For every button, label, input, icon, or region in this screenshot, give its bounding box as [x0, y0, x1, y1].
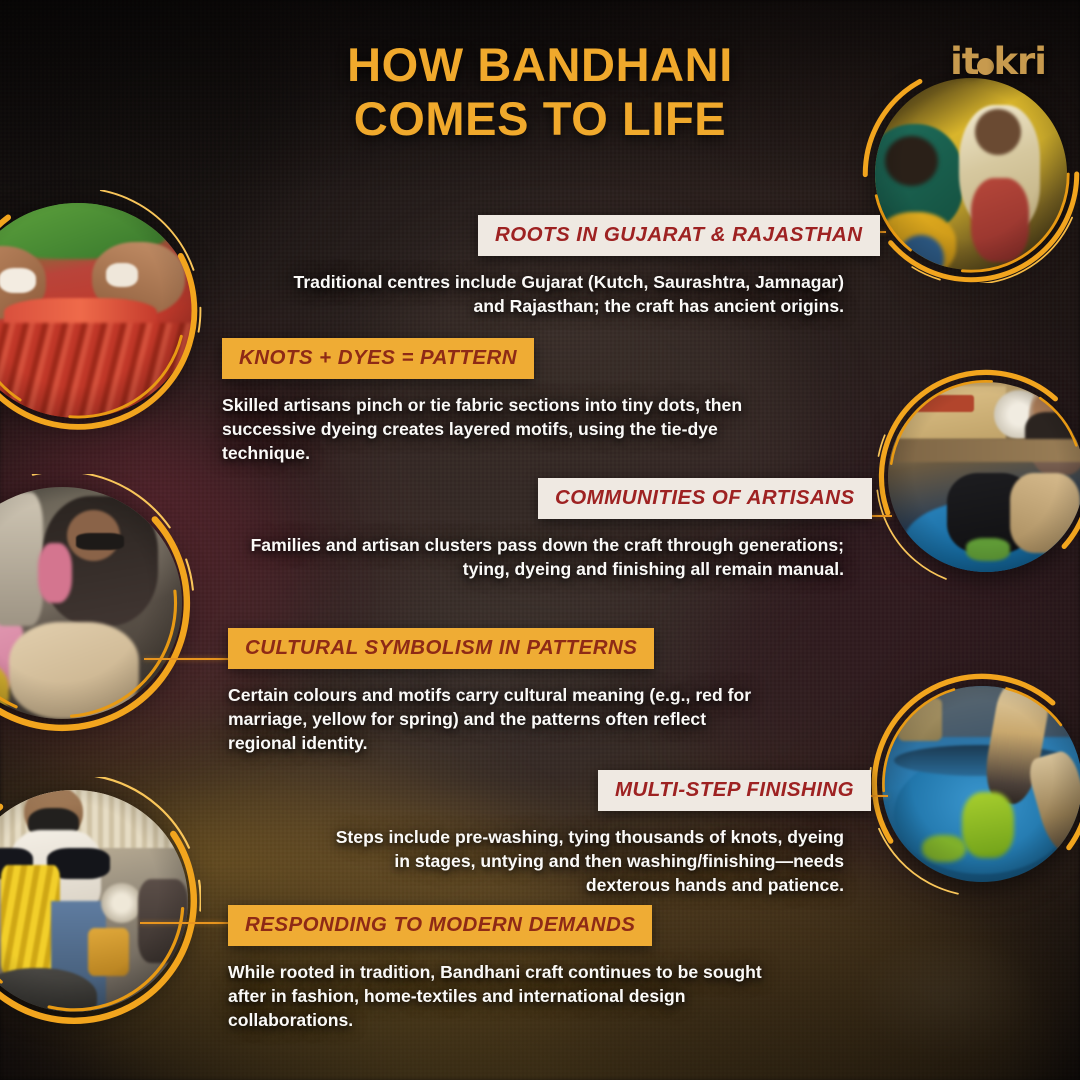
photo-yellow-dyeing-disc: [0, 790, 188, 1012]
photo-hands-red-fabric: [0, 203, 194, 418]
photo-hands-red-fabric-disc: [0, 203, 194, 418]
photo-dyer-vat-blue-disc: [888, 382, 1080, 572]
section-communities-label[interactable]: COMMUNITIES OF ARTISANS: [538, 478, 872, 519]
page-title-line-1: HOW BANDHANI: [0, 38, 1080, 92]
section-cultural-symbolism-label[interactable]: CULTURAL SYMBOLISM IN PATTERNS: [228, 628, 654, 669]
brand-logo-dot-icon: [977, 58, 994, 75]
section-roots-body: Traditional centres include Gujarat (Kut…: [282, 271, 844, 319]
section-modern-demands-label[interactable]: RESPONDING TO MODERN DEMANDS: [228, 905, 652, 946]
section-knots-dyes-body: Skilled artisans pinch or tie fabric sec…: [222, 394, 758, 466]
connector-line-modern-demands: [140, 922, 228, 924]
section-communities: COMMUNITIES OF ARTISANS Families and art…: [538, 478, 844, 582]
photo-dyer-vat-blue: [888, 382, 1080, 572]
section-roots-label[interactable]: ROOTS IN GUJARAT & RAJASTHAN: [478, 215, 880, 256]
photo-indigo-vat: [882, 686, 1080, 882]
brand-logo-text-start: it: [950, 40, 978, 83]
section-knots-dyes: KNOTS + DYES = PATTERN Skilled artisans …: [222, 338, 782, 466]
photo-artisan-woman-disc: [0, 487, 182, 719]
section-cultural-symbolism-body: Certain colours and motifs carry cultura…: [228, 684, 774, 756]
photo-yellow-dyeing: [0, 790, 188, 1012]
section-modern-demands: RESPONDING TO MODERN DEMANDS While roote…: [228, 905, 788, 1033]
section-multi-step-finishing: MULTI-STEP FINISHING Steps include pre-w…: [598, 770, 844, 898]
photo-artisan-woman: [0, 487, 182, 719]
section-modern-demands-body: While rooted in tradition, Bandhani craf…: [228, 961, 780, 1033]
section-multi-step-finishing-label[interactable]: MULTI-STEP FINISHING: [598, 770, 871, 811]
page-title-line-2: COMES TO LIFE: [0, 92, 1080, 146]
connector-line-cultural-symbolism: [144, 658, 228, 660]
brand-logo-text-end: kri: [993, 40, 1046, 83]
photo-indigo-vat-disc: [882, 686, 1080, 882]
page-title: HOW BANDHANI COMES TO LIFE: [0, 38, 1080, 145]
section-multi-step-finishing-body: Steps include pre-washing, tying thousan…: [320, 826, 844, 898]
section-knots-dyes-label[interactable]: KNOTS + DYES = PATTERN: [222, 338, 534, 379]
section-communities-body: Families and artisan clusters pass down …: [232, 534, 844, 582]
brand-logo-itokri[interactable]: itkri: [950, 40, 1046, 83]
section-cultural-symbolism: CULTURAL SYMBOLISM IN PATTERNS Certain c…: [228, 628, 788, 756]
section-roots: ROOTS IN GUJARAT & RAJASTHAN Traditional…: [478, 215, 846, 319]
